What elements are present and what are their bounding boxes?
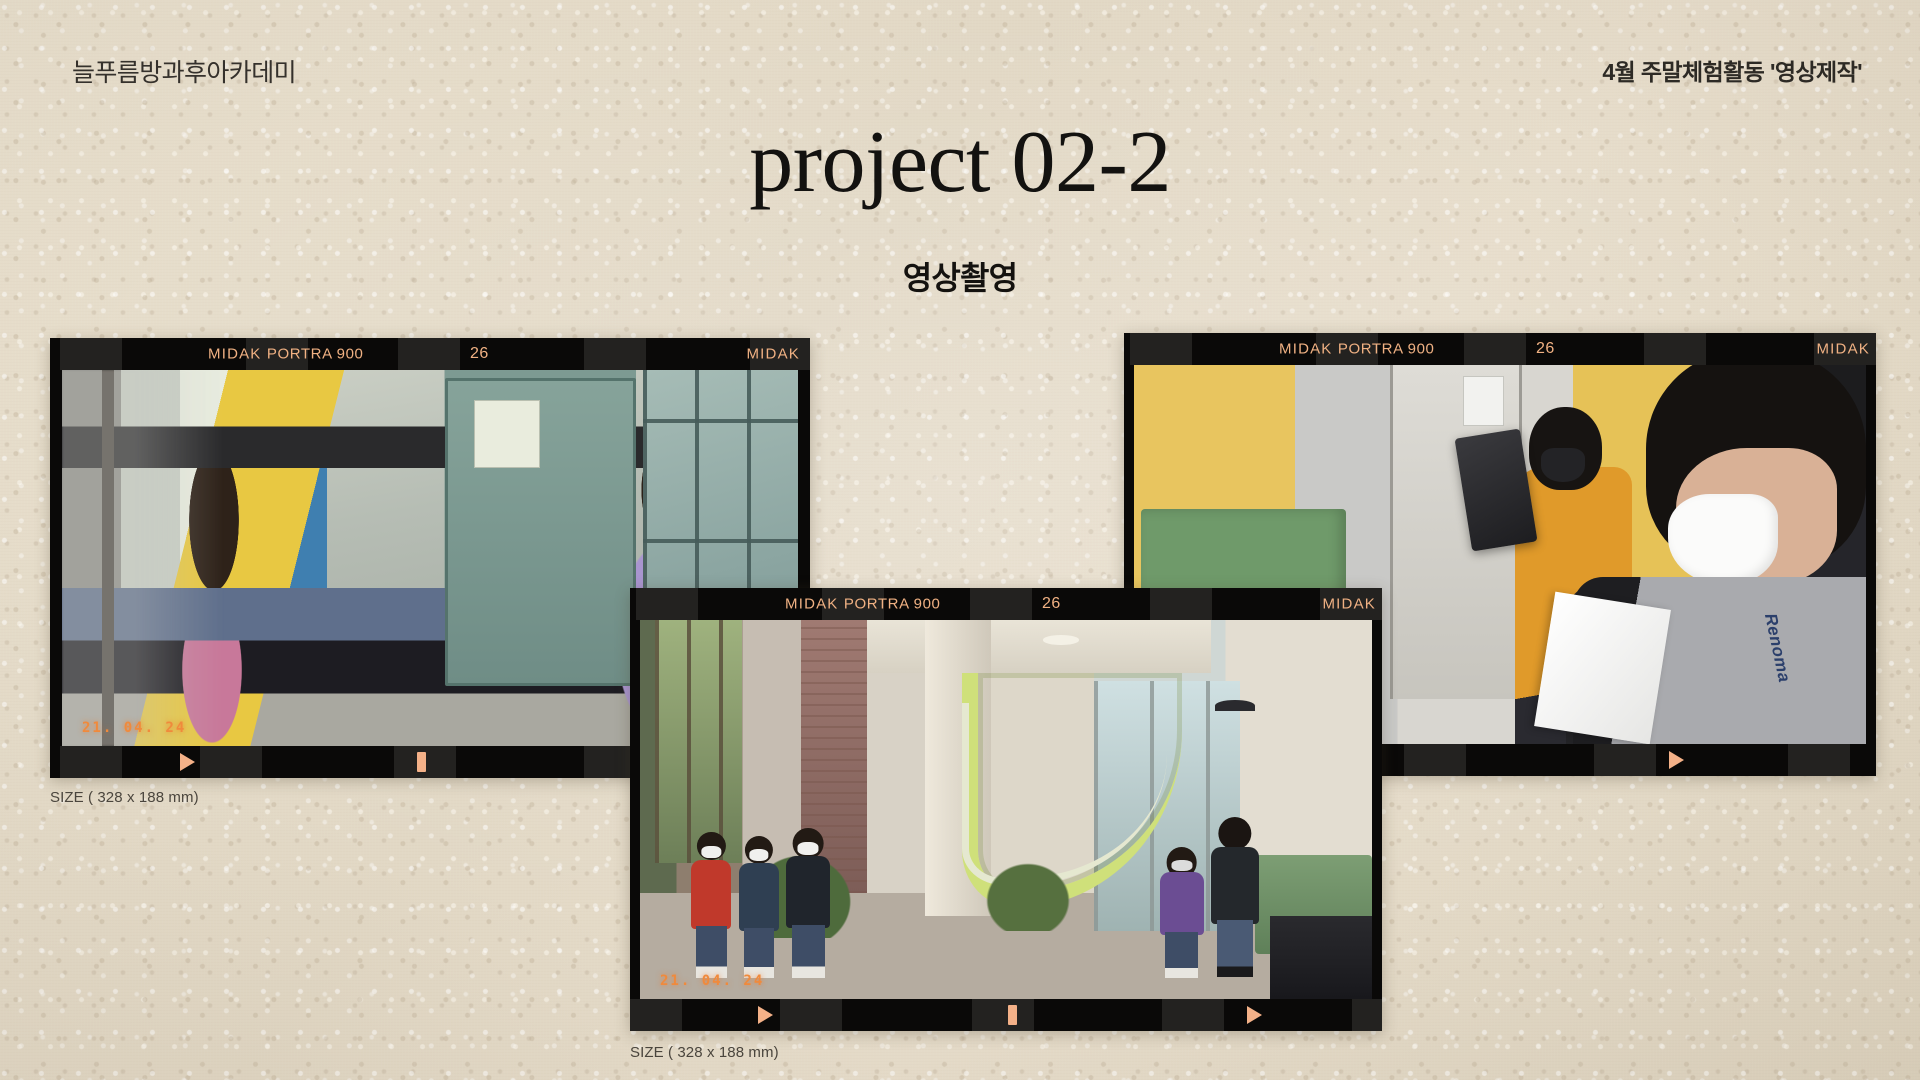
sprocket-hole [1644,333,1706,365]
photo-datestamp-1: 21. 04. 24 [82,720,186,736]
sprocket-hole [1130,333,1192,365]
film-brand-text: MIDAK [785,596,839,613]
sprocket-hole [1162,999,1224,1031]
header: 늘푸름방과후아카데미 4월 주말체험활동 '영상제작' [0,0,1920,120]
play-triangle-icon [1669,751,1684,769]
sprocket-hole [970,588,1032,620]
sprocket-hole [584,338,646,370]
film-strip-bottom-3 [630,999,1382,1031]
film-stock-label-1: MIDAK PORTRA 900 [208,346,364,363]
film-stock-label-2: MIDAK PORTRA 900 [1279,341,1435,358]
photo-image-3: 21. 04. 24 [640,620,1372,999]
film-brand-right-2: MIDAK [1816,341,1870,358]
film-brand-text: MIDAK [208,346,262,363]
sprocket-hole [1150,588,1212,620]
page-subtitle: 영상촬영 [0,253,1920,299]
sprocket-hole [60,338,122,370]
film-strip-top-1: MIDAK PORTRA 900 26 MIDAK [50,338,810,370]
photo-size-caption-3: SIZE ( 328 x 188 mm) [630,1044,779,1061]
play-triangle-icon [1247,1006,1262,1024]
film-brand-text: MIDAK [1279,341,1333,358]
film-strip-top-3: MIDAK PORTRA 900 26 MIDAK [630,588,1382,620]
film-stock-label-3: MIDAK PORTRA 900 [785,596,941,613]
sprocket-hole [200,746,262,778]
sprocket-hole [1464,333,1526,365]
sprocket-hole [1404,744,1466,776]
sprocket-hole [1352,999,1382,1031]
play-triangle-icon [758,1006,773,1024]
photo-size-caption-1: SIZE ( 328 x 188 mm) [50,789,199,806]
photo-datestamp-3: 21. 04. 24 [660,973,764,989]
film-brand-right-1: MIDAK [746,346,800,363]
film-frame-number-2: 26 [1536,340,1555,358]
sprocket-hole [780,999,842,1031]
film-brand-right-3: MIDAK [1322,596,1376,613]
academy-brand-label: 늘푸름방과후아카데미 [72,53,296,89]
film-strip-top-2: MIDAK PORTRA 900 26 MIDAK [1124,333,1876,365]
bar-marker-icon [1008,1005,1017,1025]
program-title-label: 4월 주말체험활동 '영상제작' [1602,53,1862,87]
film-stock-text: PORTRA 900 [267,346,364,363]
page-title: project 02-2 [0,119,1920,207]
sprocket-hole [398,338,460,370]
film-frame-number-1: 26 [470,345,489,363]
sprocket-hole [1788,744,1850,776]
bar-marker-icon [417,752,426,772]
sprocket-hole [1594,744,1656,776]
photo-frame-3[interactable]: MIDAK PORTRA 900 26 MIDAK 21. 04. [630,588,1382,1031]
film-stock-text: PORTRA 900 [844,596,941,613]
play-triangle-icon [180,753,195,771]
sprocket-hole [972,999,1034,1031]
sprocket-hole [636,588,698,620]
film-frame-number-3: 26 [1042,595,1061,613]
sprocket-hole [60,746,122,778]
sprocket-hole [630,999,682,1031]
film-stock-text: PORTRA 900 [1338,341,1435,358]
